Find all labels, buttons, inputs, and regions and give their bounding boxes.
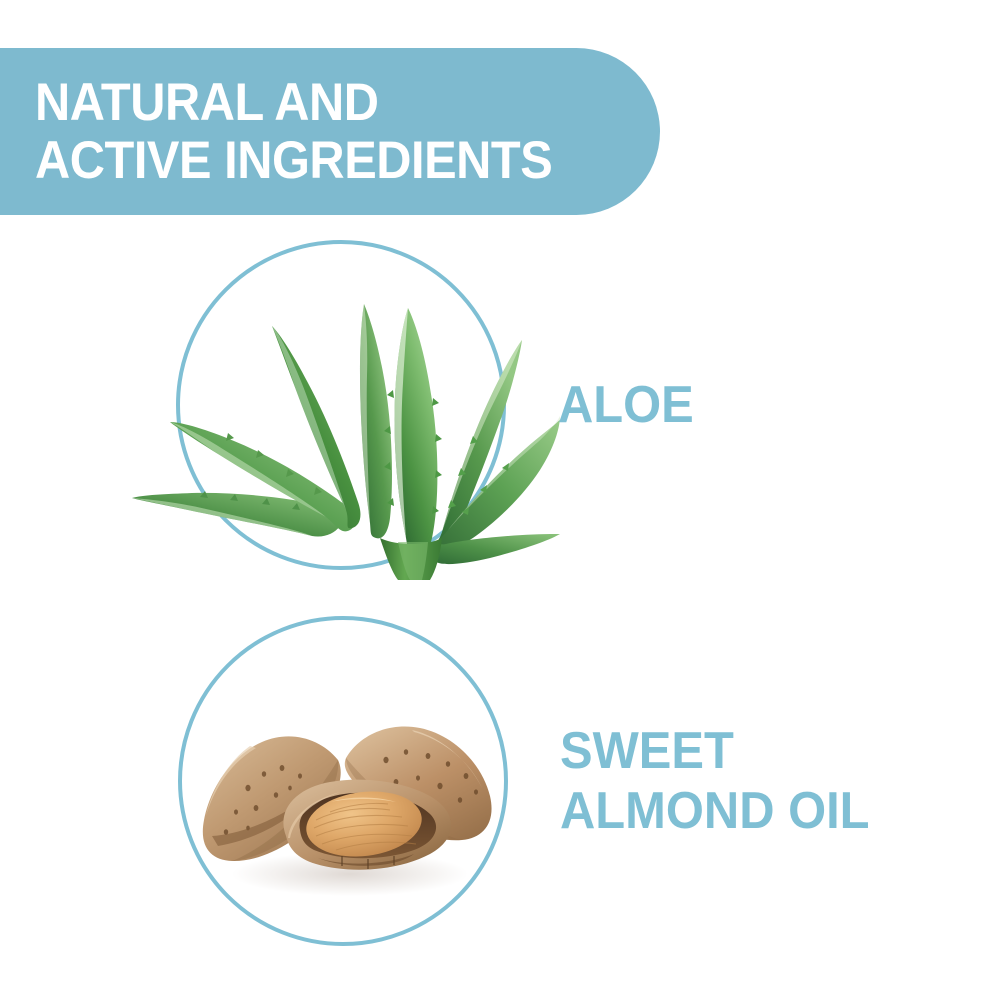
header-banner: NATURAL AND ACTIVE INGREDIENTS — [0, 48, 660, 215]
aloe-leaf-1 — [132, 493, 343, 537]
ingredient-label-almond: SWEET ALMOND OIL — [560, 721, 870, 841]
aloe-leaf-3 — [272, 326, 360, 528]
almond-nuts-icon — [190, 660, 506, 910]
aloe-plant-icon — [130, 238, 560, 583]
aloe-stem — [380, 538, 442, 580]
aloe-leaf-5 — [436, 340, 522, 549]
almond-shadow — [232, 852, 468, 896]
almond-left — [203, 736, 341, 861]
aloe-leaf-6 — [438, 416, 560, 550]
aloe-image-circle — [176, 240, 506, 570]
aloe-leaf-center — [394, 308, 437, 557]
almond-image-circle — [178, 616, 508, 946]
ingredient-row-aloe: ALOE — [176, 240, 976, 570]
aloe-leaf-7 — [431, 534, 560, 564]
aloe-leaf-2 — [170, 422, 355, 531]
header-title-line-1: NATURAL AND — [35, 74, 610, 132]
almond-front-open — [283, 780, 451, 870]
header-title-line-2: ACTIVE INGREDIENTS — [35, 132, 610, 190]
ingredient-row-almond: SWEET ALMOND OIL — [178, 616, 978, 946]
ingredient-label-aloe: ALOE — [558, 375, 694, 435]
almond-right — [345, 726, 492, 840]
aloe-leaf-4 — [360, 304, 392, 538]
